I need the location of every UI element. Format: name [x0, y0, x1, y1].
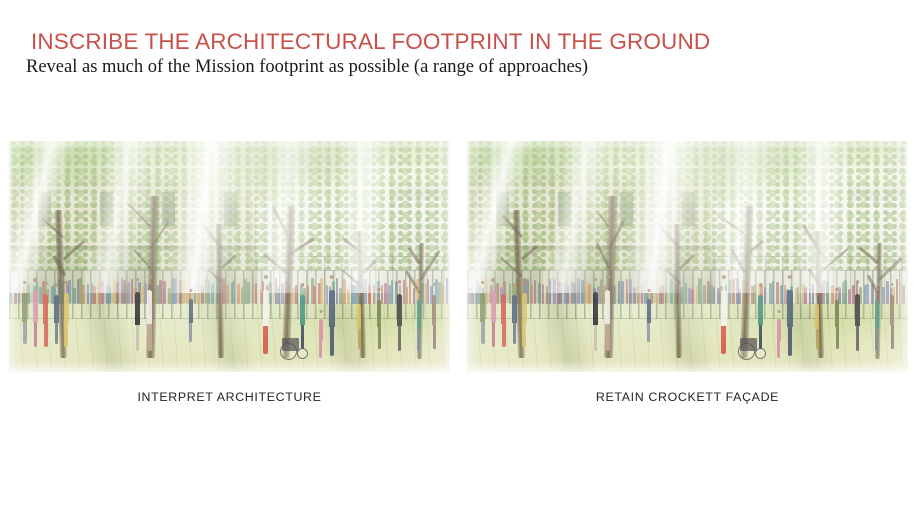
- figure-legs: [378, 327, 381, 349]
- figure-legs: [721, 326, 725, 354]
- figure-head: [606, 275, 610, 279]
- wheelchair-group: [278, 334, 312, 360]
- figure-head: [189, 289, 192, 292]
- figure-legs: [856, 326, 860, 351]
- pedestrian-figure: [501, 294, 506, 324]
- pedestrian-figure: [329, 290, 335, 327]
- figure-legs: [777, 341, 780, 358]
- pedestrian-figure: [758, 295, 763, 325]
- pedestrian-figure: [875, 300, 879, 329]
- figure-head: [721, 275, 725, 279]
- panel-interpret-architecture: INTERPRET ARCHITECTURE: [9, 141, 450, 372]
- pedestrian-figure: [54, 295, 59, 323]
- figure-legs: [816, 329, 819, 349]
- figure-legs: [606, 324, 610, 351]
- pedestrian-figure: [319, 319, 323, 341]
- figure-legs: [358, 329, 361, 349]
- pedestrian-figure: [777, 319, 781, 341]
- figure-legs: [522, 323, 526, 346]
- figure-head: [358, 293, 361, 296]
- pedestrian-figure: [491, 291, 496, 322]
- figure-head: [148, 275, 152, 279]
- pedestrian-figure: [33, 291, 38, 322]
- rendering-image-left: [9, 141, 450, 372]
- figure-head: [330, 275, 334, 279]
- figure-head: [55, 283, 59, 287]
- figure-legs: [319, 341, 322, 358]
- figure-head: [759, 283, 763, 287]
- figure-legs: [788, 327, 792, 356]
- figure-legs: [189, 323, 192, 342]
- pedestrian-figure: [835, 300, 839, 328]
- figure-head: [64, 281, 68, 285]
- figure-legs: [263, 326, 267, 354]
- figure-head: [816, 293, 819, 296]
- pedestrian-figure: [189, 299, 193, 323]
- figure-head: [433, 283, 436, 286]
- pedestrian-figure: [593, 292, 598, 325]
- pedestrian-figure: [647, 299, 651, 323]
- pedestrian-figure: [522, 293, 527, 323]
- pedestrian-figure: [417, 300, 421, 329]
- pedestrian-figure: [605, 290, 610, 325]
- pedestrian-figure: [890, 295, 894, 325]
- pedestrian-figure: [815, 304, 819, 329]
- wheelchair-group: [736, 334, 770, 360]
- pedestrian-figure: [22, 293, 27, 322]
- pedestrian-figure: [357, 304, 361, 329]
- pedestrian-figure: [300, 295, 305, 325]
- figure-head: [502, 282, 506, 286]
- wheelchair-seat: [282, 338, 299, 351]
- figure-head: [481, 281, 485, 285]
- foreground-people: [9, 141, 450, 372]
- pedestrian-figure: [377, 300, 381, 328]
- caption-interpret-architecture: INTERPRET ARCHITECTURE: [9, 390, 450, 404]
- figure-head: [301, 283, 305, 287]
- figure-head: [856, 280, 860, 284]
- figure-legs: [647, 323, 650, 342]
- figure-head: [398, 280, 402, 284]
- pedestrian-figure: [64, 293, 69, 323]
- figure-head: [136, 278, 140, 282]
- foreground-people: [467, 141, 908, 372]
- figure-legs: [433, 325, 436, 348]
- figure-legs: [44, 324, 48, 347]
- figure-head: [875, 288, 878, 291]
- figure-head: [263, 275, 267, 279]
- figure-legs: [481, 322, 485, 345]
- figure-legs: [417, 329, 420, 352]
- figure-legs: [492, 322, 496, 346]
- figure-head: [491, 278, 495, 282]
- pedestrian-figure: [480, 293, 485, 322]
- pedestrian-figure: [512, 295, 517, 323]
- page-subtitle: Reveal as much of the Mission footprint …: [26, 57, 588, 78]
- figure-head: [44, 282, 48, 286]
- pedestrian-figure: [432, 295, 436, 325]
- figure-legs: [594, 325, 598, 351]
- figure-head: [319, 310, 322, 313]
- figure-head: [788, 275, 792, 279]
- wheelchair-seat: [740, 338, 757, 351]
- panel-retain-crockett-facade: RETAIN CROCKETT FAÇADE: [467, 141, 908, 372]
- figure-head: [513, 283, 517, 287]
- figure-head: [522, 281, 526, 285]
- figure-head: [23, 281, 27, 285]
- figure-legs: [891, 325, 894, 348]
- rendering-image-right: [467, 141, 908, 372]
- figure-head: [891, 283, 894, 286]
- pedestrian-figure: [263, 290, 269, 326]
- figure-head: [417, 288, 420, 291]
- figure-legs: [64, 323, 68, 346]
- figure-legs: [136, 325, 140, 351]
- pedestrian-figure: [135, 292, 140, 325]
- figure-legs: [398, 326, 402, 351]
- figure-head: [378, 288, 381, 291]
- figure-legs: [148, 324, 152, 351]
- figure-legs: [23, 322, 27, 345]
- pedestrian-figure: [787, 290, 793, 327]
- figure-head: [777, 310, 780, 313]
- figure-legs: [34, 322, 38, 346]
- page-title: INSCRIBE THE ARCHITECTURAL FOOTPRINT IN …: [31, 29, 710, 55]
- figure-legs: [502, 324, 506, 347]
- figure-head: [647, 289, 650, 292]
- pedestrian-figure: [397, 294, 402, 326]
- figure-head: [836, 288, 839, 291]
- figure-legs: [330, 327, 334, 356]
- pedestrian-figure: [855, 294, 860, 326]
- pedestrian-figure: [147, 290, 152, 325]
- figure-head: [594, 278, 598, 282]
- pedestrian-figure: [721, 290, 727, 326]
- figure-legs: [836, 327, 839, 349]
- caption-retain-crockett-facade: RETAIN CROCKETT FAÇADE: [467, 390, 908, 404]
- pedestrian-figure: [43, 294, 48, 324]
- figure-legs: [875, 329, 878, 352]
- figure-legs: [55, 323, 59, 345]
- figure-head: [33, 278, 37, 282]
- figure-legs: [513, 323, 517, 345]
